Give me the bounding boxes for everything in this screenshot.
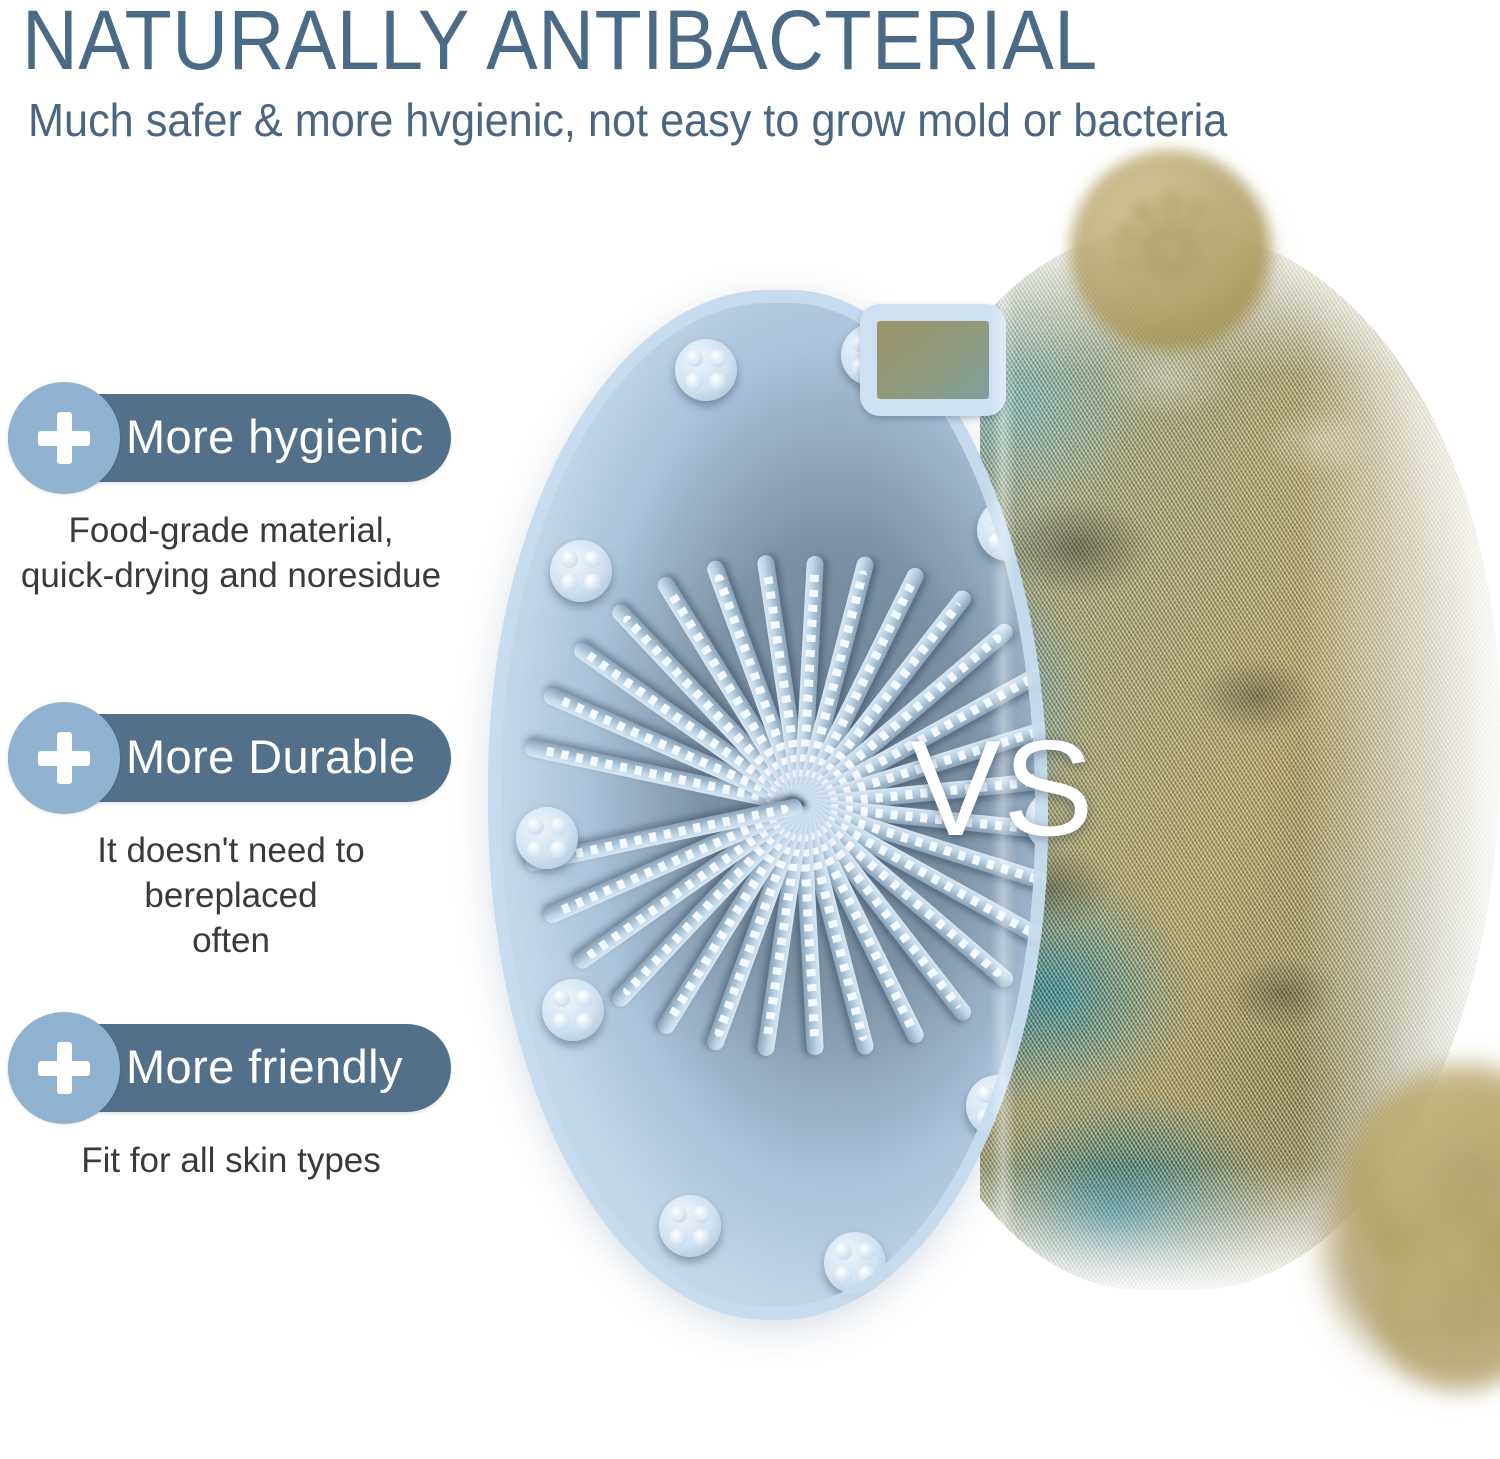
suction-pad-nub: [584, 551, 601, 568]
plus-icon: [8, 382, 120, 494]
suction-pad-nub: [977, 1086, 994, 1103]
suction-pad-nub: [553, 990, 570, 1007]
suction-pad-nub: [835, 1243, 852, 1260]
suction-pad-nub: [693, 1229, 710, 1246]
suction-pad-nub: [670, 1229, 687, 1246]
suction-pad-nub: [584, 574, 601, 591]
plus-glyph: [38, 732, 90, 784]
suction-pad-nub: [561, 551, 578, 568]
suction-pad-nub: [709, 350, 726, 367]
suction-pad-nub: [1011, 510, 1028, 527]
scrubber-suction-pad: [966, 1075, 1028, 1137]
scrubber-suction-pad: [550, 540, 612, 602]
plus-glyph: [38, 412, 90, 464]
suction-pad-nub: [553, 1013, 570, 1030]
scrubber-suction-pad: [824, 1232, 886, 1294]
suction-pad-nub: [988, 533, 1005, 550]
scrubber-suction-pad: [542, 979, 604, 1041]
suction-pad-nub: [709, 373, 726, 390]
feature-caption: Food-grade material, quick-drying and no…: [0, 508, 462, 598]
suction-pad-nub: [1000, 1109, 1017, 1126]
feature-item-more-durable: More Durable It doesn't need to bereplac…: [0, 700, 470, 1010]
feature-caption: Fit for all skin types: [0, 1138, 462, 1183]
feature-caption: It doesn't need to bereplaced often: [0, 828, 462, 963]
suction-pad-nub: [835, 1266, 852, 1283]
suction-pad-nub: [550, 841, 567, 858]
feature-item-more-hygienic: More hygienic Food-grade material, quick…: [0, 380, 470, 700]
scrubber-suction-pad: [516, 807, 578, 869]
suction-pad-nub: [561, 574, 578, 591]
suction-pad-nub: [550, 818, 567, 835]
suction-pad-nub: [527, 818, 544, 835]
suction-pad-nub: [1011, 533, 1028, 550]
product-feature-graphic: NATURALLY ANTIBACTERIAL Much safer & mor…: [0, 0, 1500, 1459]
suction-pad-nub: [686, 350, 703, 367]
suction-pad-nub: [576, 1013, 593, 1030]
feature-item-more-friendly: More friendly Fit for all skin types: [0, 1010, 470, 1210]
suction-pad-nub: [527, 841, 544, 858]
feature-label: More Durable: [118, 714, 448, 802]
feature-list: More hygienic Food-grade material, quick…: [0, 380, 470, 1210]
suction-pad-nub: [693, 1206, 710, 1223]
feature-label: More friendly: [118, 1024, 448, 1112]
suction-pad-nub: [858, 1243, 875, 1260]
suction-pad-nub: [670, 1206, 687, 1223]
suction-pad-nub: [858, 1266, 875, 1283]
suction-pad-nub: [1000, 1086, 1017, 1103]
suction-pad-nub: [988, 510, 1005, 527]
feature-label: More hygienic: [118, 394, 448, 482]
hanging-loop-hole: [860, 304, 1006, 416]
page-title: NATURALLY ANTIBACTERIAL: [22, 0, 1365, 86]
plus-glyph: [38, 1042, 90, 1094]
plus-icon: [8, 1012, 120, 1124]
scrubber-suction-pad: [977, 499, 1039, 561]
comparison-image: VS: [470, 160, 1500, 1380]
suction-pad-nub: [977, 1109, 994, 1126]
scrubber-suction-pad: [675, 339, 737, 401]
suction-pad-nub: [686, 373, 703, 390]
scrubber-suction-pad: [659, 1195, 721, 1257]
vs-label: VS: [868, 720, 1138, 856]
plus-icon: [8, 702, 120, 814]
suction-pad-nub: [576, 990, 593, 1007]
page-subtitle: Much safer & more hvgienic, not easy to …: [28, 92, 1391, 148]
